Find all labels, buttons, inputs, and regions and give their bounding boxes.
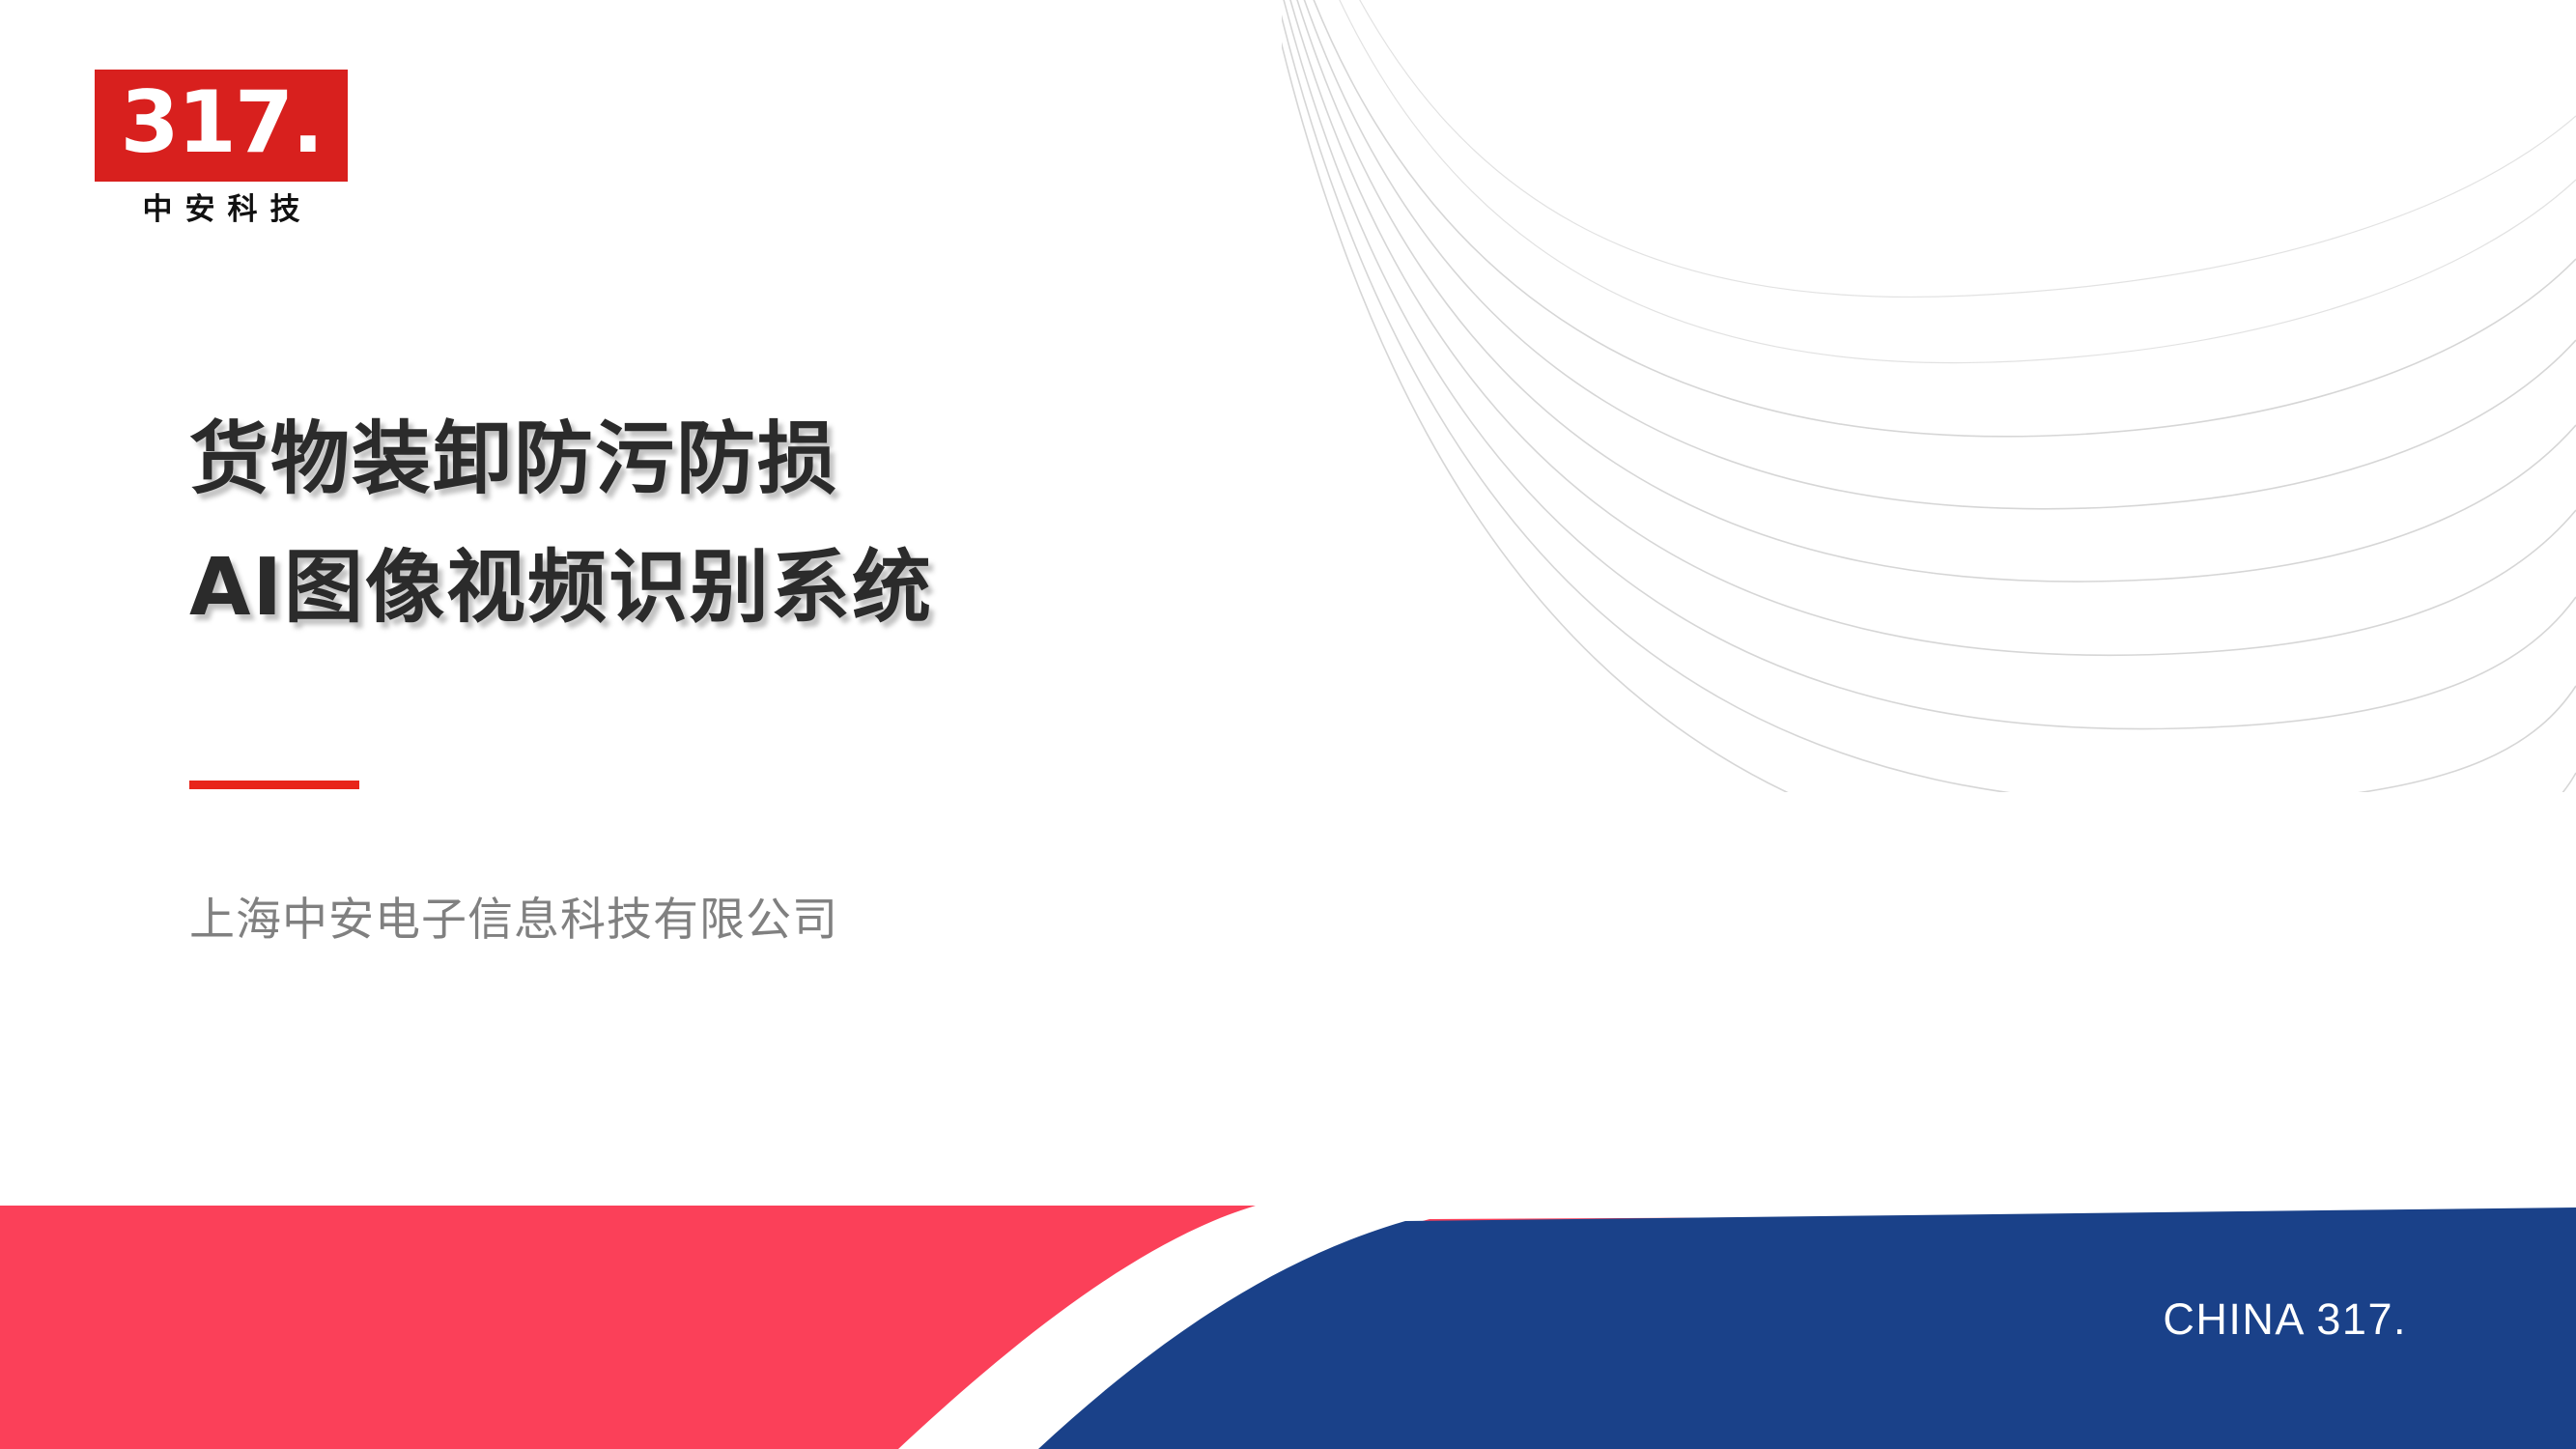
- logo-mark-317: 317.: [95, 70, 348, 182]
- title-line-2: AI图像视频识别系统: [189, 525, 1445, 653]
- title-divider: [189, 781, 359, 789]
- page-title: 货物装卸防污防损 AI图像视频识别系统: [189, 396, 1445, 653]
- logo-mark-text: 317.: [120, 80, 322, 165]
- decorative-curves: [1282, 0, 2576, 792]
- logo-company-short: 中安科技: [95, 195, 348, 225]
- slide-root: 317. 中安科技 货物装卸防污防损 AI图像视频识别系统 上海中安电子信息科技…: [0, 0, 2576, 1449]
- footer-brand-text: CHINA 317.: [2163, 1294, 2407, 1345]
- company-name-subtitle: 上海中安电子信息科技有限公司: [189, 882, 838, 949]
- footer-bar: CHINA 317.: [0, 1206, 2576, 1449]
- title-line-1: 货物装卸防污防损: [189, 396, 1445, 525]
- company-logo: 317. 中安科技: [95, 70, 348, 225]
